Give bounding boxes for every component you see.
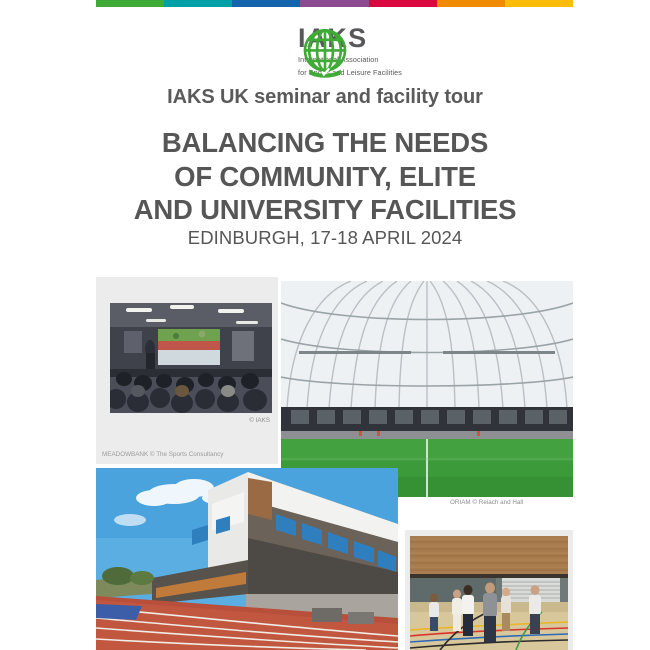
colorbar-segment-orange [437,0,505,7]
seminar-subtitle: IAKS UK seminar and facility tour [0,86,650,109]
colorbar-segment-green [96,0,164,7]
oriam-photo-credit: ORIAM © Reiach and Hall [450,499,523,506]
page-title: BALANCING THE NEEDS OF COMMUNITY, ELITE … [0,126,650,227]
logo-block: IAKS International Association for Sport… [0,24,650,79]
colorbar-segment-blue [232,0,300,7]
brand-colorbar [96,0,573,7]
sports-hall-panel [405,530,573,650]
event-dateline: EDINBURGH, 17-18 APRIL 2024 [0,227,650,249]
oriam-dome-photo [281,281,573,497]
globe-icon [248,29,291,74]
sports-hall-photo [410,536,568,650]
seminar-room-photo [110,303,272,413]
page-title-line-1: BALANCING THE NEEDS [0,126,650,160]
meadowbank-caption: MEADOWBANK © The Sports Consultancy [102,451,223,458]
seminar-photo-credit: © IAKS [249,417,270,424]
meadowbank-panel: © IAKS MEADOWBANK © The Sports Consultan… [96,277,278,464]
athletics-track-photo [96,468,398,650]
poster-page: IAKS International Association for Sport… [0,0,650,650]
colorbar-segment-yellow [505,0,573,7]
colorbar-segment-red [369,0,437,7]
colorbar-segment-teal [164,0,232,7]
page-title-line-3: AND UNIVERSITY FACILITIES [0,193,650,227]
iaks-logo: IAKS International Association for Sport… [248,24,402,79]
page-title-line-2: OF COMMUNITY, ELITE [0,160,650,194]
colorbar-segment-purple [300,0,368,7]
photo-mosaic: © IAKS MEADOWBANK © The Sports Consultan… [96,277,573,650]
